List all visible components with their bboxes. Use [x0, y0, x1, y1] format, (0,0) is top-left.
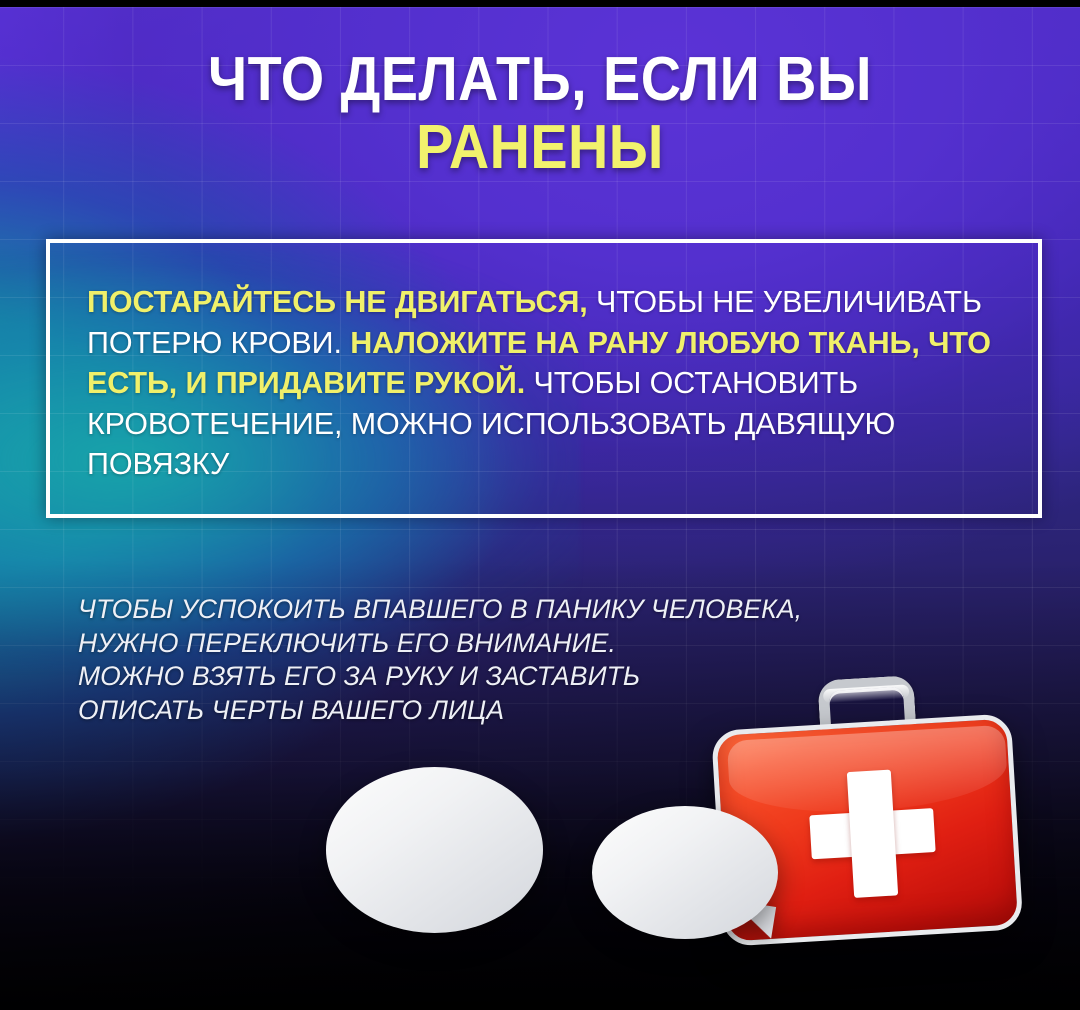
- speech-bubble-body: [592, 806, 778, 939]
- instruction-text: ПОСТАРАЙТЕСЬ НЕ ДВИГАТЬСЯ, ЧТОБЫ НЕ УВЕЛ…: [87, 282, 1031, 485]
- advisory-note-line-2: НУЖНО ПЕРЕКЛЮЧИТЬ ЕГО ВНИМАНИЕ.: [78, 627, 978, 661]
- page-title: ЧТО ДЕЛАТЬ, ЕСЛИ ВЫ РАНЕНЫ: [0, 46, 1080, 182]
- speech-bubble-icon-small: [592, 806, 778, 939]
- poster-canvas: ЧТО ДЕЛАТЬ, ЕСЛИ ВЫ РАНЕНЫ ПОСТАРАЙТЕСЬ …: [0, 0, 1080, 1010]
- instruction-box: ПОСТАРАЙТЕСЬ НЕ ДВИГАТЬСЯ, ЧТОБЫ НЕ УВЕЛ…: [46, 239, 1042, 518]
- cross-bar-vertical: [847, 770, 898, 898]
- advisory-note-line-1: ЧТОБЫ УСПОКОИТЬ ВПАВШЕГО В ПАНИКУ ЧЕЛОВЕ…: [78, 593, 978, 627]
- top-black-band: [0, 0, 1080, 7]
- title-line-1: ЧТО ДЕЛАТЬ, ЕСЛИ ВЫ: [54, 46, 1026, 114]
- speech-bubble-icon-large: [326, 767, 543, 933]
- speech-bubble-body: [326, 767, 543, 933]
- medical-cross-icon: [807, 767, 938, 900]
- title-line-2: РАНЕНЫ: [54, 114, 1026, 182]
